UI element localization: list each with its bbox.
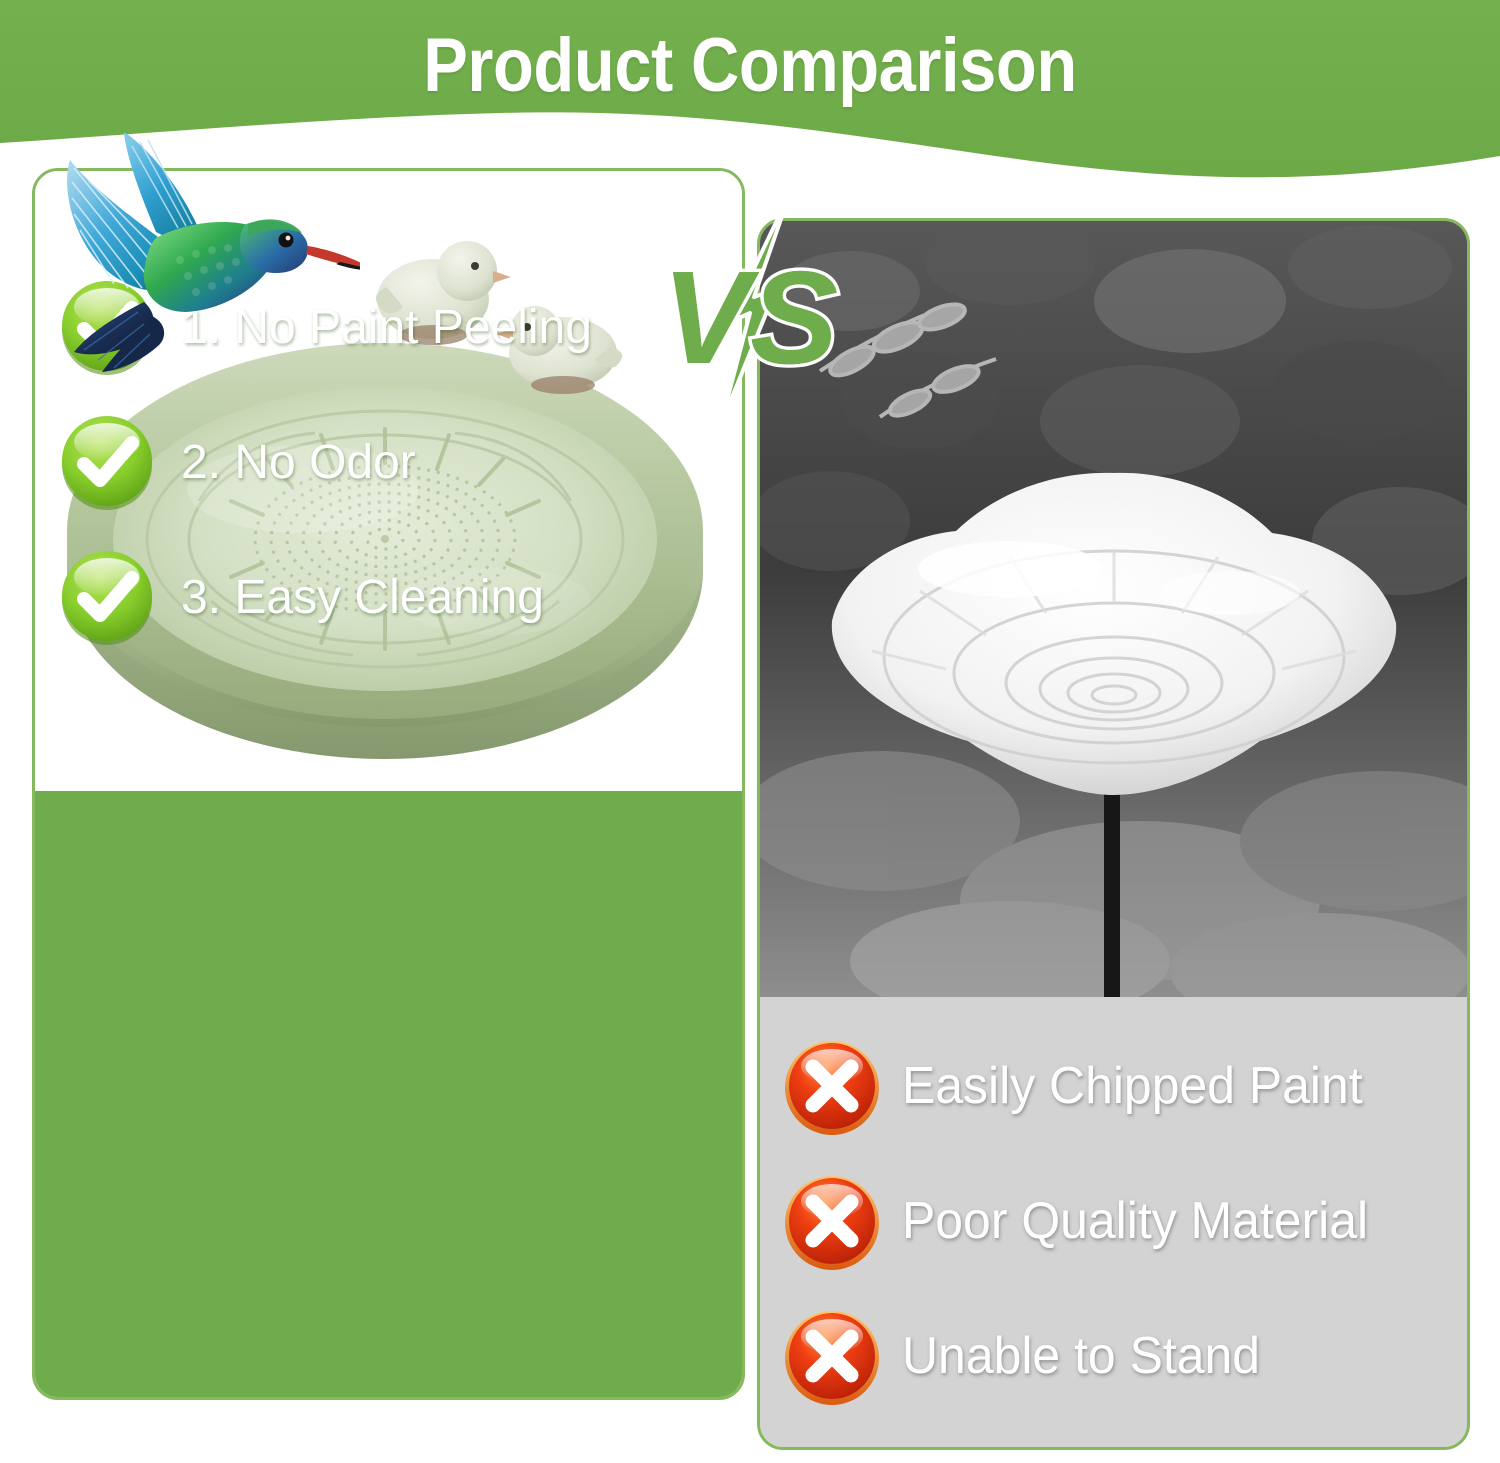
product-comparison-infographic: Product Comparison: [0, 0, 1500, 1463]
list-item-label: Unable to Stand: [902, 1326, 1260, 1386]
list-item-label: 1. No Paint Peeling: [181, 300, 592, 355]
check-circle-icon: [57, 277, 157, 377]
left-feature-panel: [35, 791, 742, 1400]
check-circle-icon: [57, 412, 157, 512]
cross-circle-icon: [782, 1036, 882, 1136]
list-item-label: 3. Easy Cleaning: [181, 570, 544, 625]
right-product-photo: [760, 221, 1467, 997]
cons-list: Easily Chipped Paint Poor Quality Materi…: [782, 1036, 1470, 1441]
list-item: 1. No Paint Peeling: [57, 277, 727, 377]
list-item: 3. Easy Cleaning: [57, 547, 727, 647]
pros-list: 1. No Paint Peeling 2. No Odor: [57, 277, 727, 682]
left-product-card: 1. No Paint Peeling 2. No Odor: [32, 168, 745, 1400]
check-circle-icon: [57, 547, 157, 647]
cross-circle-icon: [782, 1306, 882, 1406]
list-item-label: Poor Quality Material: [902, 1191, 1368, 1251]
list-item: Poor Quality Material: [782, 1171, 1470, 1271]
list-item: Unable to Stand: [782, 1306, 1470, 1406]
page-title: Product Comparison: [90, 22, 1410, 109]
right-product-card: Easily Chipped Paint Poor Quality Materi…: [757, 218, 1470, 1450]
list-item: 2. No Odor: [57, 412, 727, 512]
cross-circle-icon: [782, 1171, 882, 1271]
list-item-label: Easily Chipped Paint: [902, 1056, 1363, 1116]
list-item: Easily Chipped Paint: [782, 1036, 1470, 1136]
list-item-label: 2. No Odor: [181, 435, 416, 490]
